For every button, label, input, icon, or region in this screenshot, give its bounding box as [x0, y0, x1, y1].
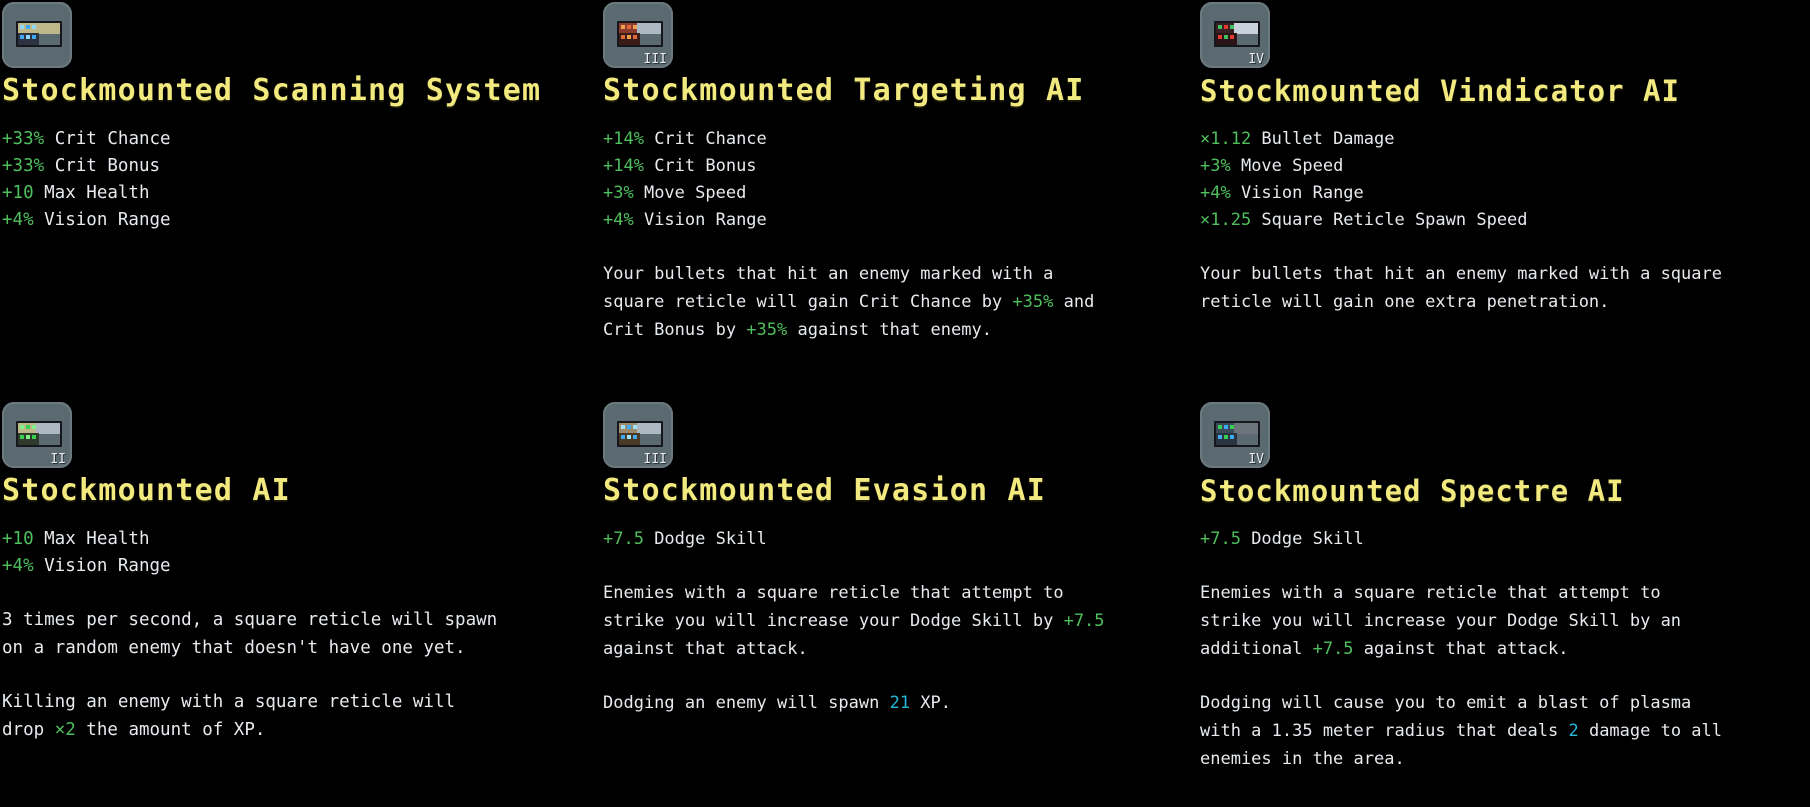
icon-tier-numeral: II [50, 453, 66, 466]
card-description: Enemies with a square reticle that attem… [1200, 579, 1730, 663]
upgrade-card[interactable]: IVStockmounted Spectre AI+7.5 Dodge Skil… [1190, 400, 1810, 807]
stat-value: +10 [2, 183, 34, 203]
pistol-vindicator-icon [1214, 21, 1258, 49]
card-description: Enemies with a square reticle that attem… [603, 579, 1123, 663]
stat-value: +14% [603, 129, 644, 149]
upgrade-card[interactable]: IVStockmounted Vindicator AI×1.12 Bullet… [1190, 0, 1810, 400]
card-stat-list: ×1.12 Bullet Damage+3% Move Speed+4% Vis… [1200, 126, 1802, 234]
stat-label: Dodge Skill [644, 529, 767, 549]
icon-outline [1214, 421, 1260, 447]
card-title: Stockmounted Targeting AI [603, 74, 1162, 108]
icon-outline [617, 421, 663, 447]
icon-tier-numeral: IV [1248, 453, 1264, 466]
card-stat-row: +4% Vision Range [2, 207, 555, 234]
card-description: Your bullets that hit an enemy marked wi… [603, 260, 1123, 344]
description-xp-value: 21 [890, 693, 910, 713]
description-text: against that attack. [603, 639, 808, 659]
description-highlight-value: +7.5 [1064, 611, 1105, 631]
card-title: Stockmounted Scanning System [2, 74, 555, 108]
card-stat-row: +4% Vision Range [603, 207, 1162, 234]
stat-label: Max Health [34, 183, 150, 203]
description-highlight-value: +35% [1012, 292, 1053, 312]
icon-outline [1214, 21, 1260, 47]
stat-value: +33% [2, 156, 44, 176]
card-stat-row: +33% Crit Chance [2, 126, 555, 153]
icon-outline [16, 421, 62, 447]
stat-value: +4% [1200, 183, 1231, 203]
upgrade-card[interactable]: IIIStockmounted Evasion AI+7.5 Dodge Ski… [595, 400, 1190, 807]
card-stat-row: +14% Crit Chance [603, 126, 1162, 153]
stat-value: ×1.25 [1200, 210, 1251, 230]
stat-label: Move Speed [634, 183, 747, 203]
card-stat-list: +7.5 Dodge Skill [1200, 526, 1802, 553]
icon-outline [16, 21, 62, 47]
icon-frame: II [2, 402, 72, 468]
card-stat-row: +3% Move Speed [603, 180, 1162, 207]
description-text: the amount of XP. [76, 720, 266, 740]
pistol-spectre-icon [1214, 421, 1258, 449]
description-text: XP. [910, 693, 951, 713]
pistol-ai-icon [16, 421, 60, 449]
stat-label: Crit Chance [644, 129, 767, 149]
icon-frame [2, 2, 72, 68]
stat-label: Vision Range [34, 556, 171, 576]
stat-value: +7.5 [1200, 529, 1241, 549]
card-icon[interactable]: III [603, 2, 675, 70]
card-stat-row: +7.5 Dodge Skill [603, 526, 1162, 553]
icon-tier-numeral: IV [1248, 53, 1264, 66]
stat-label: Crit Bonus [44, 156, 160, 176]
card-description: Your bullets that hit an enemy marked wi… [1200, 260, 1730, 316]
card-stat-list: +7.5 Dodge Skill [603, 526, 1162, 553]
card-title: Stockmounted AI [2, 474, 555, 508]
stat-label: Move Speed [1231, 156, 1344, 176]
pistol-scanner-icon [16, 21, 60, 49]
card-title: Stockmounted Vindicator AI [1200, 74, 1802, 108]
icon-tier-numeral: III [644, 53, 667, 66]
card-stat-row: +4% Vision Range [1200, 180, 1802, 207]
card-stat-list: +10 Max Health+4% Vision Range [2, 526, 555, 580]
stat-label: Vision Range [634, 210, 767, 230]
stat-label: Crit Chance [44, 129, 170, 149]
card-description: Dodging an enemy will spawn 21 XP. [603, 689, 1123, 717]
description-highlight-value: ×2 [55, 720, 76, 740]
card-stat-row: ×1.12 Bullet Damage [1200, 126, 1802, 153]
stat-value: +4% [603, 210, 634, 230]
card-description: Killing an enemy with a square reticle w… [2, 688, 502, 744]
description-text: Your bullets that hit an enemy marked wi… [1200, 264, 1722, 312]
icon-frame: IV [1200, 2, 1270, 68]
card-stat-row: +4% Vision Range [2, 553, 555, 580]
card-icon[interactable] [2, 2, 74, 70]
stat-value: +4% [2, 210, 34, 230]
icon-frame: III [603, 402, 673, 468]
pistol-targeting-icon [617, 21, 661, 49]
card-icon[interactable]: IV [1200, 2, 1272, 70]
card-description: 3 times per second, a square reticle wil… [2, 606, 502, 662]
stat-label: Vision Range [34, 210, 171, 230]
card-icon[interactable]: IV [1200, 402, 1272, 470]
icon-frame: IV [1200, 402, 1270, 468]
description-text: Your bullets that hit an enemy marked wi… [603, 264, 1053, 312]
card-icon[interactable]: III [603, 402, 675, 470]
icon-frame: III [603, 2, 673, 68]
card-stat-row: +3% Move Speed [1200, 153, 1802, 180]
stat-value: +14% [603, 156, 644, 176]
stat-label: Crit Bonus [644, 156, 757, 176]
stat-label: Max Health [34, 529, 150, 549]
card-stat-row: +33% Crit Bonus [2, 153, 555, 180]
description-highlight-value: +35% [746, 320, 787, 340]
stat-label: Dodge Skill [1241, 529, 1364, 549]
card-stat-list: +14% Crit Chance+14% Crit Bonus+3% Move … [603, 126, 1162, 234]
card-description: Dodging will cause you to emit a blast o… [1200, 689, 1730, 773]
stat-value: +4% [2, 556, 34, 576]
description-text: against that attack. [1354, 639, 1569, 659]
stat-value: ×1.12 [1200, 129, 1251, 149]
card-title: Stockmounted Evasion AI [603, 474, 1162, 508]
description-highlight-value: +7.5 [1313, 639, 1354, 659]
description-text: against that enemy. [787, 320, 992, 340]
upgrade-card[interactable]: IIIStockmounted Targeting AI+14% Crit Ch… [595, 0, 1190, 400]
pistol-evasion-icon [617, 421, 661, 449]
stat-label: Vision Range [1231, 183, 1364, 203]
description-text: 3 times per second, a square reticle wil… [2, 610, 497, 658]
card-stat-row: +10 Max Health [2, 526, 555, 553]
description-text: Dodging an enemy will spawn [603, 693, 890, 713]
card-stat-row: +10 Max Health [2, 180, 555, 207]
description-xp-value: 2 [1568, 721, 1578, 741]
upgrade-card[interactable]: IIStockmounted AI+10 Max Health+4% Visio… [0, 400, 595, 807]
icon-tier-numeral: III [644, 453, 667, 466]
upgrade-card-grid: Stockmounted Scanning System+33% Crit Ch… [0, 0, 1810, 807]
stat-value: +10 [2, 529, 34, 549]
upgrade-card[interactable]: Stockmounted Scanning System+33% Crit Ch… [0, 0, 595, 400]
description-text: Enemies with a square reticle that attem… [603, 583, 1064, 631]
icon-outline [617, 21, 663, 47]
stat-value: +3% [1200, 156, 1231, 176]
card-stat-row: +14% Crit Bonus [603, 153, 1162, 180]
stat-label: Bullet Damage [1251, 129, 1394, 149]
card-title: Stockmounted Spectre AI [1200, 474, 1802, 508]
stat-label: Square Reticle Spawn Speed [1251, 210, 1527, 230]
card-stat-row: +7.5 Dodge Skill [1200, 526, 1802, 553]
stat-value: +7.5 [603, 529, 644, 549]
card-stat-row: ×1.25 Square Reticle Spawn Speed [1200, 207, 1802, 234]
stat-value: +3% [603, 183, 634, 203]
card-icon[interactable]: II [2, 402, 74, 470]
card-stat-list: +33% Crit Chance+33% Crit Bonus+10 Max H… [2, 126, 555, 234]
stat-value: +33% [2, 129, 44, 149]
